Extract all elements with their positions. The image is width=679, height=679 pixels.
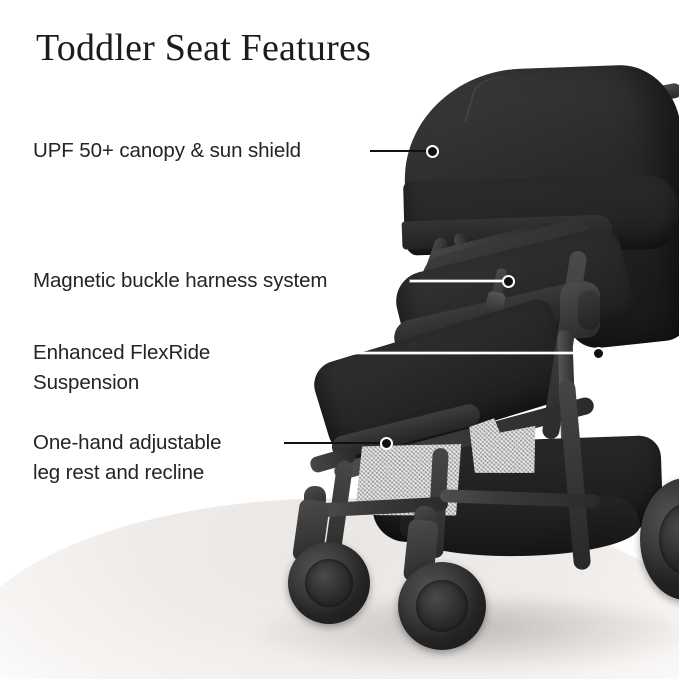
front-wheel-2: [398, 562, 486, 650]
callout-dot-canopy: [426, 145, 439, 158]
callout-label-legrest-line1: One-hand adjustable: [33, 431, 221, 454]
callout-dot-legrest: [380, 437, 393, 450]
callout-label-legrest-line2: leg rest and recline: [33, 458, 221, 488]
recline-adjuster: [578, 290, 600, 330]
callout-dot-harness: [502, 275, 515, 288]
callout-leader-canopy: [370, 150, 432, 152]
page-title: Toddler Seat Features: [36, 26, 371, 70]
callout-label-suspension-line1: Enhanced FlexRide: [33, 341, 210, 364]
callout-leader-suspension: [253, 352, 601, 354]
callout-label-canopy: UPF 50+ canopy & sun shield: [33, 136, 301, 166]
callout-label-suspension: Enhanced FlexRide Suspension: [33, 338, 210, 398]
callout-label-legrest: One-hand adjustable leg rest and recline: [33, 428, 221, 488]
callout-dot-suspension: [592, 347, 605, 360]
callout-label-harness: Magnetic buckle harness system: [33, 266, 327, 296]
callout-leader-harness: [410, 280, 510, 282]
feature-diagram-image: Toddler Seat Features UPF 50+ canopy & s…: [0, 0, 679, 679]
callout-leader-legrest: [284, 442, 386, 444]
callout-label-suspension-line2: Suspension: [33, 368, 210, 398]
front-wheel-1: [288, 542, 370, 624]
